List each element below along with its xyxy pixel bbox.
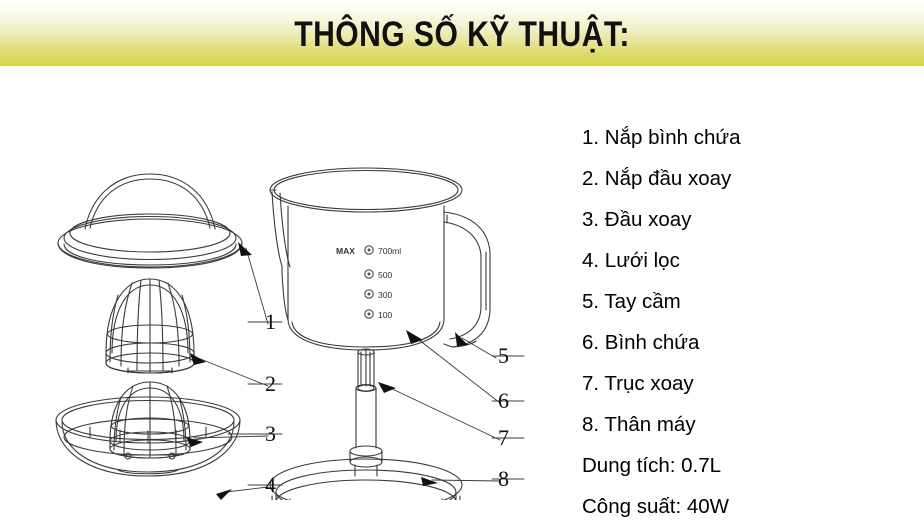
part-lid [58,174,242,268]
spec-item-2: 2. Nắp đầu xoay [582,159,924,200]
header-banner: THÔNG SỐ KỸ THUẬT: [0,0,924,66]
jug-max-label: MAX [336,246,355,256]
callout-number-1: 1 [265,309,276,334]
specifications-list: 1. Nắp bình chứa 2. Nắp đầu xoay 3. Đầu … [582,66,924,500]
part-motor-base-shape [270,459,462,500]
part-drive-shaft [350,349,382,476]
content-area: MAX 700ml 500 300 100 1 2 3 4 5 6 7 8 1.… [0,66,924,500]
spec-item-1: 1. Nắp bình chứa [582,118,924,159]
callout-number-3: 3 [265,421,276,446]
spec-item-8: 8. Thân máy [582,405,924,446]
part-reamer-large [106,279,194,373]
callout-number-5: 5 [498,343,509,368]
spec-item-6: 6. Bình chứa [582,323,924,364]
jug-value-300: 300 [378,290,392,300]
part-jug-container [270,168,490,350]
callout-number-7: 7 [498,425,509,450]
spec-capacity: Dung tích: 0.7L [582,446,924,487]
spec-item-5: 5. Tay cầm [582,282,924,323]
callout-number-2: 2 [265,371,276,396]
spec-item-3: 3. Đầu xoay [582,200,924,241]
callout-number-4: 4 [265,472,276,497]
spec-item-7: 7. Trục xoay [582,364,924,405]
jug-volume-marks [365,246,373,318]
callout-number-6: 6 [498,388,509,413]
callout-numbers: 1 2 3 4 5 6 7 8 [265,309,509,497]
jug-marking-labels: MAX 700ml 500 300 100 [336,246,401,320]
jug-value-500: 500 [378,270,392,280]
product-exploded-diagram: MAX 700ml 500 300 100 1 2 3 4 5 6 7 8 [0,66,560,500]
diagram-canvas: MAX 700ml 500 300 100 1 2 3 4 5 6 7 8 [0,66,560,500]
callout-number-8: 8 [498,466,509,491]
spec-item-4: 4. Lưới lọc [582,241,924,282]
part-filter-bowl-shape [56,397,240,476]
jug-value-700: 700ml [378,246,401,256]
page-title: THÔNG SỐ KỸ THUẬT: [294,15,629,52]
jug-value-100: 100 [378,310,392,320]
spec-power: Công suất: 40W [582,487,924,528]
